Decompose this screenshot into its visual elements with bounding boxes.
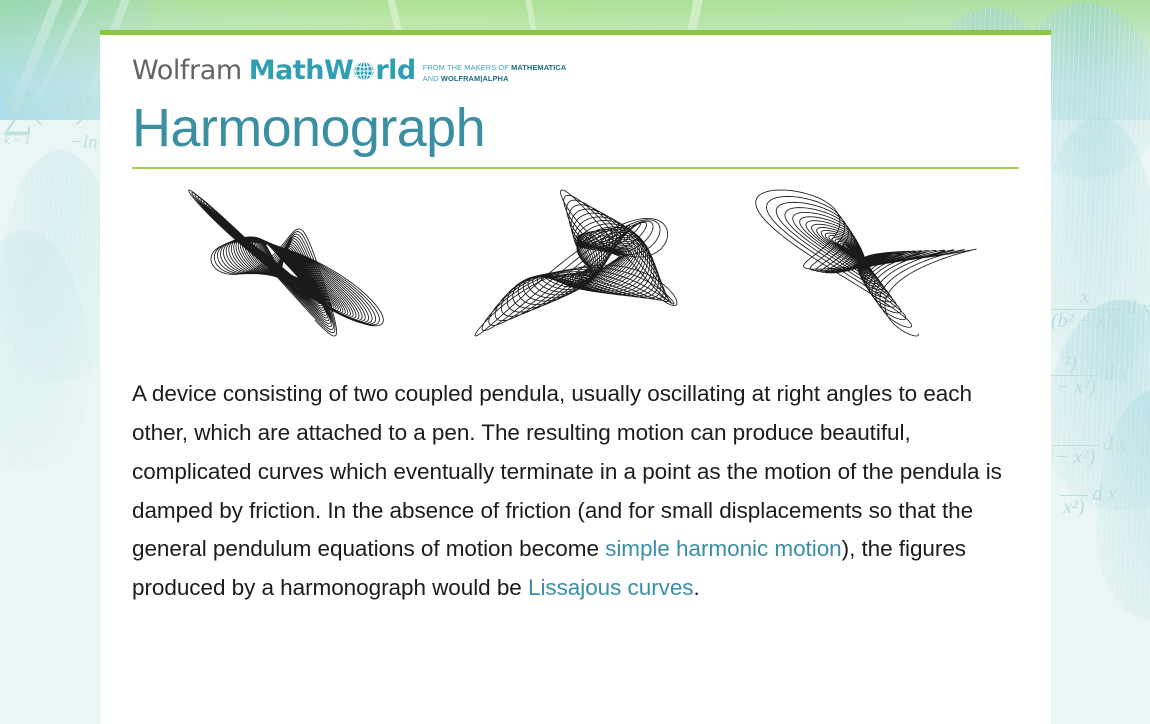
harmonograph-curve-1 [157,183,415,343]
logo-rld-text: rld [375,57,415,84]
tagline-line-2: and Wolfram|Alpha [423,74,509,83]
page-root: ∞ ∑ k = 1 (−1)k−1 −ln x (b² − x²) d x ²)… [0,0,1150,724]
decorative-fan-shape [1096,390,1150,620]
logo-w-text: W [324,57,353,84]
background-formula-integral-2: ²) ² − x²) d x [1042,352,1128,399]
article-text-part-1: A device consisting of two coupled pendu… [132,381,1002,561]
harmonograph-curve-2 [447,183,705,343]
globe-icon [353,60,375,82]
logo-tagline: From the makers of Mathematica and Wolfr… [423,57,567,84]
background-formula-ln: −ln [70,132,98,154]
figure-gallery [132,169,1019,351]
light-ray [26,0,102,118]
decorative-fan-shape [1046,300,1150,510]
link-simple-harmonic-motion[interactable]: simple harmonic motion [605,536,842,561]
logo-wolfram-text: Wolfram [132,57,242,84]
site-logo[interactable]: Wolfram MathW [132,57,1019,84]
harmonograph-curve-3 [737,183,995,343]
background-formula-integral-1: x (b² − x²) d x [1048,286,1150,333]
logo-math-text: Math [249,57,324,84]
background-formula-sum: ∞ ∑ k = 1 (−1)k−1 [2,78,115,147]
page-title: Harmonograph [132,100,1019,167]
harmonograph-figure-1 [157,183,415,343]
link-lissajous-curves[interactable]: Lissajous curves [528,575,694,600]
background-formula-integral-4: x²) d x [1060,472,1116,519]
decorative-fan-shape [1038,118,1150,378]
article-text-part-3: . [694,575,700,600]
logo-mathworld-text: MathW rld [249,57,416,84]
article-body: A device consisting of two coupled pendu… [132,351,1019,608]
harmonograph-figure-2 [447,183,705,343]
content-card: Wolfram MathW [100,30,1051,724]
light-ray [4,0,69,123]
harmonograph-figure-3 [737,183,995,343]
decorative-fan-shape [0,230,90,470]
tagline-line-1: From the makers of Mathematica [423,63,567,72]
background-formula-integral-3: − x²) d x [1052,422,1127,469]
